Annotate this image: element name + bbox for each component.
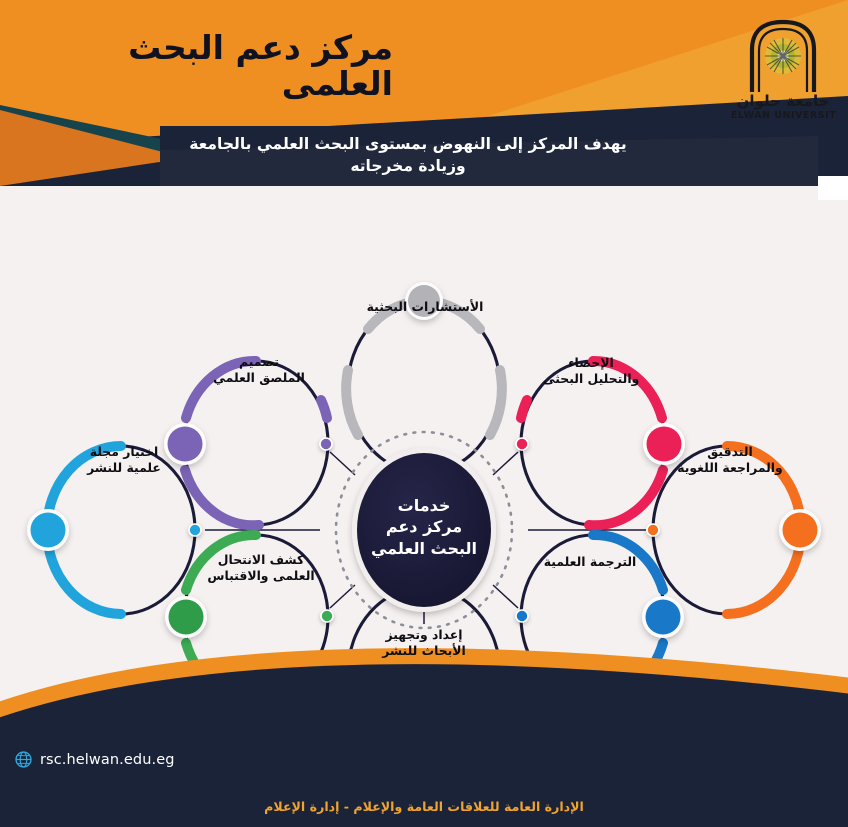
- header-banner: مركز دعم البحث العلمى يهدف المركز إلى ال…: [0, 0, 848, 200]
- node-inner-dot-proofread: [647, 524, 659, 536]
- sun-burst-icon: [765, 38, 801, 74]
- node-dot-translate: [646, 600, 681, 635]
- node-dot-poster: [168, 427, 203, 462]
- logo-arabic-text: جامعة حلوان: [737, 92, 830, 110]
- page-title: مركز دعم البحث العلمى: [13, 30, 393, 103]
- node-inner-dot-stats: [516, 438, 528, 450]
- node-dot-consult: [408, 285, 440, 317]
- infographic-poster: مركز دعم البحث العلمى يهدف المركز إلى ال…: [0, 0, 848, 827]
- node-ring-journal[interactable]: [27, 446, 201, 614]
- header-subtitle: يهدف المركز إلى النهوض بمستوى البحث العل…: [168, 133, 648, 177]
- globe-icon: [14, 750, 33, 769]
- node-dot-proofread: [783, 513, 818, 548]
- spoke-bottom-right: [493, 585, 518, 608]
- logo-english-text: HELWAN UNIVERSITY: [730, 110, 836, 121]
- footer: rsc.helwan.edu.eg الإدارة العامة للعلاقا…: [0, 637, 848, 827]
- center-label: خدمات مركز دعم البحث العلمي: [354, 495, 494, 559]
- node-dot-journal: [31, 513, 66, 548]
- spoke-bottom-left: [330, 585, 355, 608]
- node-inner-dot-poster: [320, 438, 332, 450]
- spoke-top-right: [493, 452, 518, 475]
- logo-arch-icon: [752, 22, 814, 92]
- helwan-university-logo: جامعة حلوان HELWAN UNIVERSITY: [730, 14, 836, 122]
- node-ring-stats[interactable]: [516, 361, 685, 525]
- footer-credit: الإدارة العامة للعلاقات العامة والإعلام …: [0, 799, 848, 814]
- website-url: rsc.helwan.edu.eg: [40, 752, 175, 768]
- node-inner-dot-journal: [189, 524, 201, 536]
- node-dot-stats: [647, 427, 682, 462]
- node-dot-plagiarism: [169, 600, 204, 635]
- node-ring-proofread[interactable]: [647, 446, 821, 614]
- node-inner-dot-translate: [516, 610, 528, 622]
- spoke-top-left: [330, 452, 355, 475]
- node-inner-dot-plagiarism: [321, 610, 333, 622]
- website-link[interactable]: rsc.helwan.edu.eg: [14, 750, 175, 769]
